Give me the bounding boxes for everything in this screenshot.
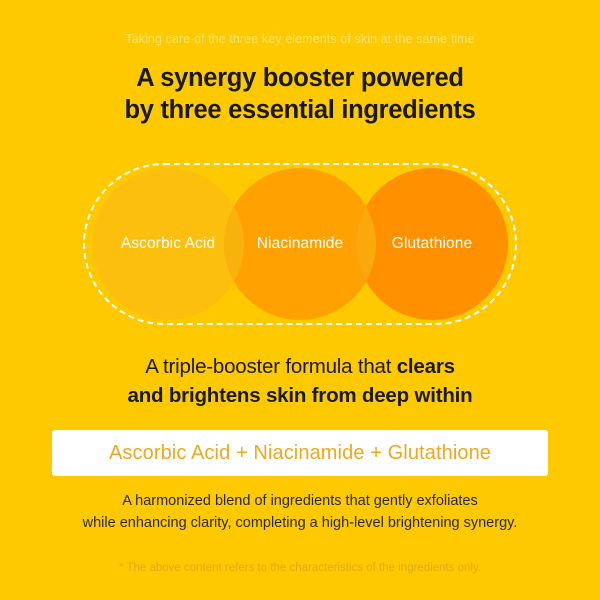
venn-diagram: Ascorbic Acid Niacinamide Glutathione	[0, 150, 600, 345]
venn-label-glutathione: Glutathione	[356, 168, 508, 320]
description-line-2: while enhancing clarity, completing a hi…	[0, 512, 600, 534]
venn-label-text: Niacinamide	[257, 235, 343, 253]
promo-banner: Taking care of the three key elements of…	[0, 0, 600, 600]
sub-headline-bold-2: and brightens skin from deep within	[128, 384, 473, 407]
sub-headline-line-1: A triple-booster formula that clears	[0, 352, 600, 381]
venn-label-text: Glutathione	[392, 235, 472, 253]
ingredients-formula-text: Ascorbic Acid + Niacinamide + Glutathion…	[109, 442, 491, 465]
sub-headline-line-2: and brightens skin from deep within	[0, 381, 600, 410]
description-line-1: A harmonized blend of ingredients that g…	[0, 490, 600, 512]
ingredients-formula-box: Ascorbic Acid + Niacinamide + Glutathion…	[52, 430, 548, 476]
sub-headline-regular: A triple-booster formula that	[145, 355, 397, 378]
venn-label-text: Ascorbic Acid	[121, 235, 215, 253]
sub-headline: A triple-booster formula that clears and…	[0, 352, 600, 410]
venn-label-ascorbic-acid: Ascorbic Acid	[92, 168, 244, 320]
page-title: A synergy booster powered by three essen…	[0, 62, 600, 126]
headline-line-1: A synergy booster powered	[0, 62, 600, 94]
sub-headline-bold-1: clears	[397, 355, 455, 378]
venn-label-niacinamide: Niacinamide	[224, 168, 376, 320]
description-paragraph: A harmonized blend of ingredients that g…	[0, 490, 600, 534]
eyebrow-text: Taking care of the three key elements of…	[0, 32, 600, 46]
headline-line-2: by three essential ingredients	[0, 94, 600, 126]
footnote-disclaimer: * The above content refers to the charac…	[0, 562, 600, 574]
